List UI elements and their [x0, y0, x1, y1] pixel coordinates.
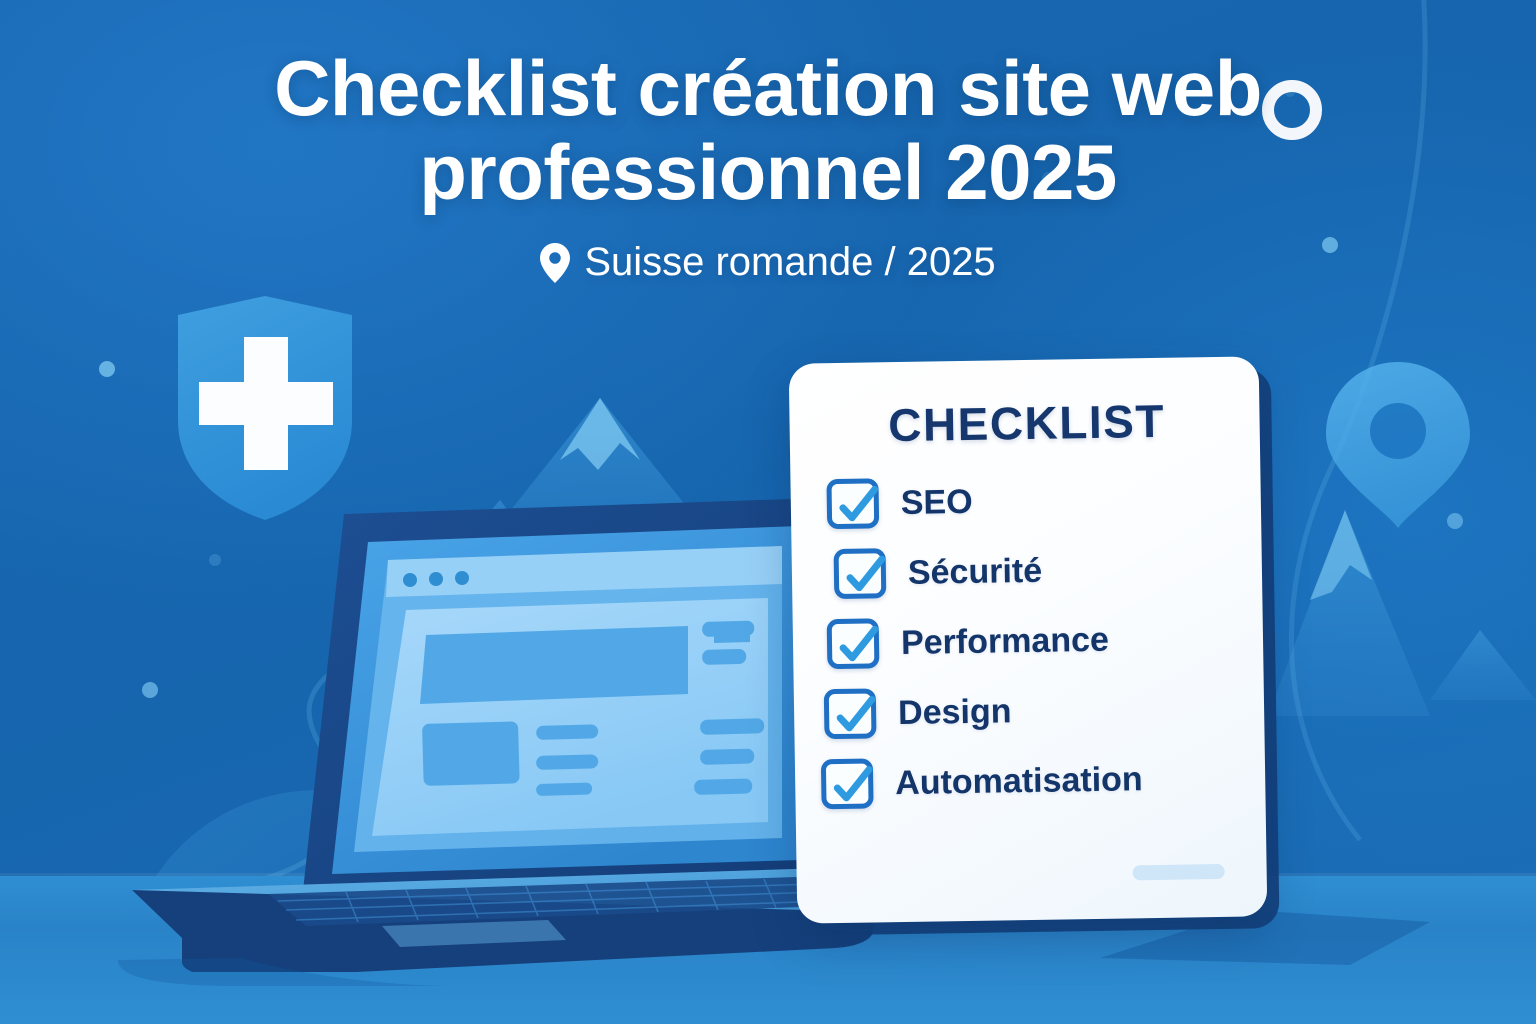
list-item[interactable]: SEO — [826, 473, 1231, 529]
list-item[interactable]: Automatisation — [821, 753, 1236, 809]
checklist-items: SEO Sécurité Per — [824, 473, 1235, 809]
list-item[interactable]: Design — [824, 683, 1235, 739]
poster-canvas: Checklist création site web professionne… — [0, 0, 1536, 1024]
checkbox-checked-icon[interactable] — [827, 618, 880, 669]
checklist-item-label: SEO — [901, 482, 973, 522]
checkbox-checked-icon[interactable] — [826, 478, 879, 529]
checklist-item-label: Automatisation — [895, 760, 1143, 803]
subtitle-row: Suisse romande / 2025 — [0, 240, 1536, 285]
list-item[interactable]: Performance — [827, 613, 1234, 669]
list-item[interactable]: Sécurité — [834, 543, 1233, 599]
subtitle-text: Suisse romande / 2025 — [584, 240, 995, 285]
checklist-title: CHECKLIST — [823, 393, 1230, 453]
checkbox-checked-icon[interactable] — [821, 758, 874, 809]
checklist-item-label: Sécurité — [908, 551, 1043, 592]
page-title: Checklist création site web professionne… — [208, 46, 1328, 214]
checklist-item-label: Design — [898, 692, 1012, 733]
card-footer-bar — [1133, 864, 1225, 880]
location-pin-icon — [540, 243, 570, 283]
checkbox-checked-icon[interactable] — [834, 548, 887, 599]
poster-header: Checklist création site web professionne… — [0, 46, 1536, 285]
checkbox-checked-icon[interactable] — [824, 688, 877, 739]
checklist-card: CHECKLIST SEO Sécu — [789, 356, 1268, 923]
checklist-item-label: Performance — [901, 620, 1109, 662]
checklist-card-wrapper: CHECKLIST SEO Sécu — [789, 356, 1268, 923]
